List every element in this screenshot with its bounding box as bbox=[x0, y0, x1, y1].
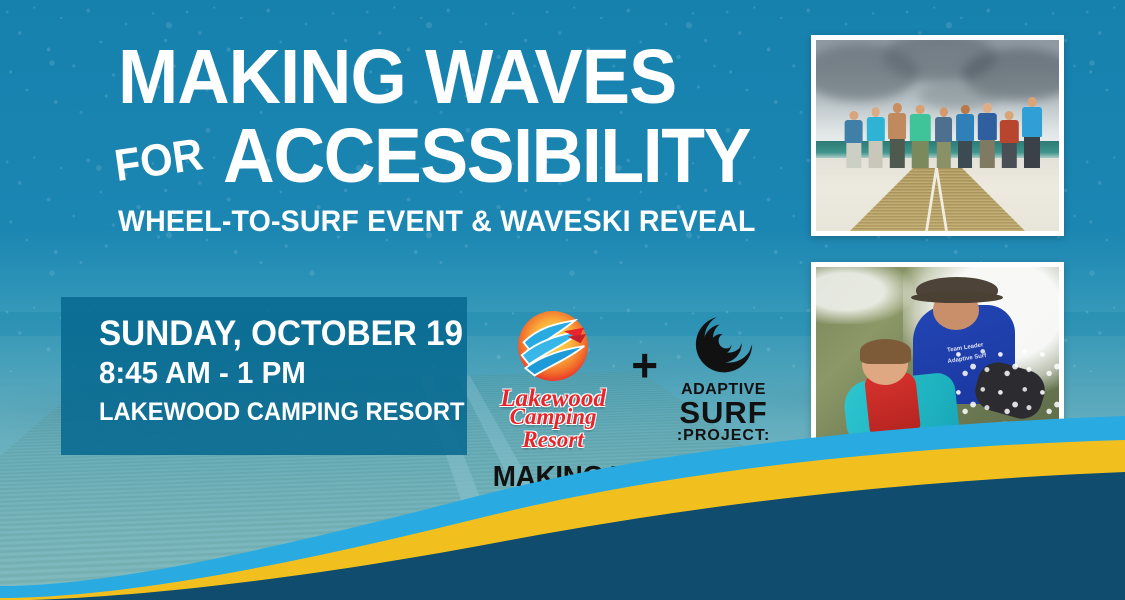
photo-person bbox=[933, 107, 955, 168]
group-on-beach-mat-photo bbox=[811, 35, 1064, 236]
photo-person bbox=[1020, 97, 1044, 168]
wave-ribbon-decoration bbox=[0, 410, 1125, 600]
headline-block: MAKING WAVES FOR ACCESSIBILITY WHEEL-TO-… bbox=[118, 42, 678, 239]
photo-child-hair bbox=[860, 339, 911, 364]
plus-symbol: + bbox=[631, 342, 658, 388]
event-date: SUNDAY, OCTOBER 19 bbox=[99, 316, 449, 352]
event-promo-poster: MAKING WAVES FOR ACCESSIBILITY WHEEL-TO-… bbox=[0, 0, 1125, 600]
headline-for-word: FOR bbox=[112, 131, 206, 188]
headline-subtitle: WHEEL-TO-SURF EVENT & WAVESKI REVEAL bbox=[118, 205, 650, 239]
group-photo-inner bbox=[816, 40, 1059, 231]
photo-person bbox=[908, 105, 932, 168]
photo-person bbox=[955, 105, 977, 168]
photo-person bbox=[998, 111, 1020, 168]
photo-person bbox=[976, 103, 998, 168]
event-time: 8:45 AM - 1 PM bbox=[99, 352, 449, 394]
headline-primary: MAKING WAVES bbox=[118, 42, 644, 113]
photo-person bbox=[843, 111, 865, 168]
photo-person bbox=[886, 103, 908, 168]
photo-bucket-hat-brim bbox=[911, 292, 1003, 303]
headline-secondary-row: FOR ACCESSIBILITY bbox=[118, 121, 678, 192]
wave-barrel-logo-mark bbox=[687, 306, 761, 380]
photo-person bbox=[865, 107, 887, 168]
photo-wave-foam-secondary bbox=[816, 267, 913, 324]
sun-waves-logo-mark bbox=[507, 300, 599, 392]
headline-accessibility-word: ACCESSIBILITY bbox=[223, 121, 750, 192]
